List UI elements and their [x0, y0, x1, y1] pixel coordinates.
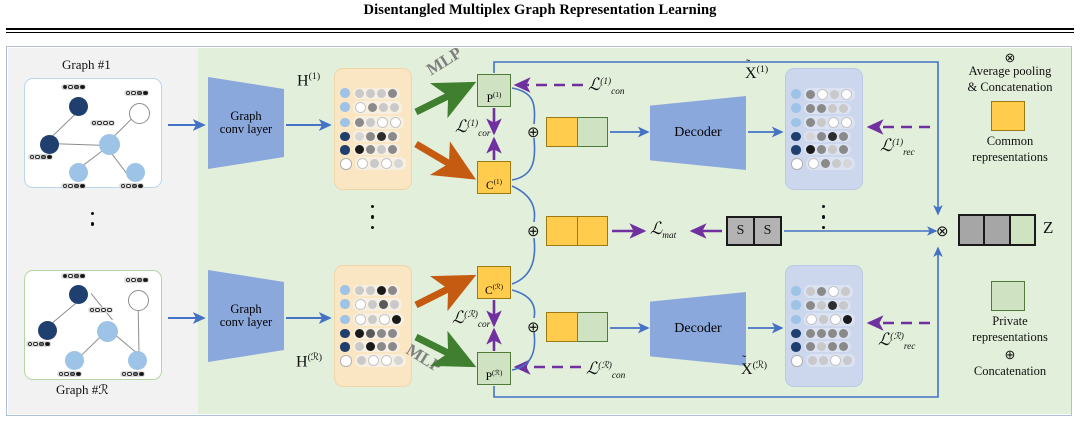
wire-orange-bottom [416, 278, 470, 305]
wire-mlp-bottom [416, 337, 470, 364]
wire-p-top-curve [512, 88, 535, 124]
wire-orange-top [416, 144, 470, 176]
connector-layer [0, 0, 1080, 421]
wire-mlp-top [416, 85, 470, 112]
wire-c-bot-to-mid [512, 238, 535, 284]
wire-c-bot-curve [512, 290, 535, 318]
wire-c-top-curve [512, 138, 535, 180]
wire-p-bot-curve [512, 332, 535, 370]
wire-c-top-to-mid [512, 186, 535, 222]
